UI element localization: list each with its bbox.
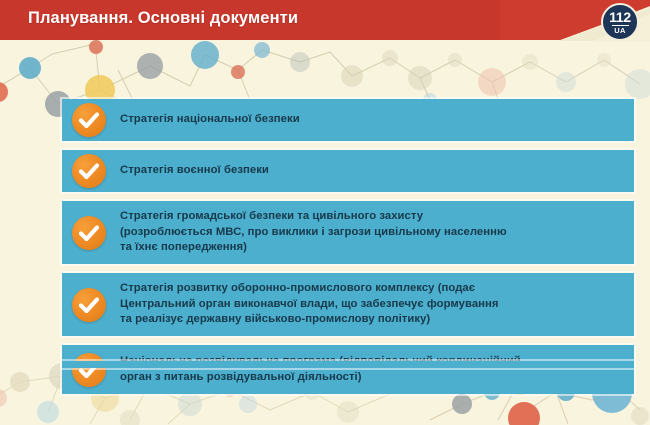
list-item-line: Стратегія воєнної безпеки [120, 163, 622, 179]
slide-canvas: Планування. Основні документи 112 UA Стр… [0, 0, 650, 425]
list-item-line: Центральний орган виконавчої влади, що з… [120, 297, 622, 313]
check-icon [72, 103, 106, 137]
check-icon [72, 353, 106, 387]
document-list: Стратегія національної безпеки Стратегія… [62, 99, 634, 403]
check-icon-wrap [72, 353, 106, 387]
list-item-text: Національна розвідувальна програма (відп… [120, 354, 622, 385]
list-item[interactable]: Стратегія громадської безпеки та цивільн… [62, 201, 634, 264]
page-title: Планування. Основні документи [28, 9, 298, 28]
check-icon [72, 216, 106, 250]
list-item[interactable]: Стратегія розвитку оборонно-промислового… [62, 273, 634, 336]
list-item-line: та реалізує державну військово-промислов… [120, 312, 622, 328]
check-icon-wrap [72, 154, 106, 188]
check-icon-wrap [72, 288, 106, 322]
list-item[interactable]: Національна розвідувальна програма (відп… [62, 345, 634, 394]
slide-header: Планування. Основні документи [0, 0, 650, 46]
list-item-text: Стратегія розвитку оборонно-промислового… [120, 281, 622, 328]
list-item-line: Стратегія громадської безпеки та цивільн… [120, 209, 622, 225]
check-icon-wrap [72, 103, 106, 137]
list-item-text: Стратегія воєнної безпеки [120, 163, 622, 179]
list-item-line: орган з питань розвідувальної діяльності… [120, 370, 622, 386]
list-item-line: Стратегія національної безпеки [120, 112, 622, 128]
list-item-line: (розроблюється МВС, про виклики і загроз… [120, 225, 622, 241]
list-item-text: Стратегія національної безпеки [120, 112, 622, 128]
check-icon [72, 154, 106, 188]
bottom-accent-bar [62, 361, 634, 368]
112-ua-logo[interactable]: 112 UA [601, 3, 639, 41]
list-item[interactable]: Стратегія воєнної безпеки [62, 150, 634, 192]
list-item-text: Стратегія громадської безпеки та цивільн… [120, 209, 622, 256]
list-item-line: та їхнє попередження) [120, 240, 622, 256]
logo-number: 112 [609, 10, 631, 24]
list-item[interactable]: Стратегія національної безпеки [62, 99, 634, 141]
list-item-line: Стратегія розвитку оборонно-промислового… [120, 281, 622, 297]
logo-suffix: UA [614, 27, 625, 35]
check-icon [72, 288, 106, 322]
check-icon-wrap [72, 216, 106, 250]
